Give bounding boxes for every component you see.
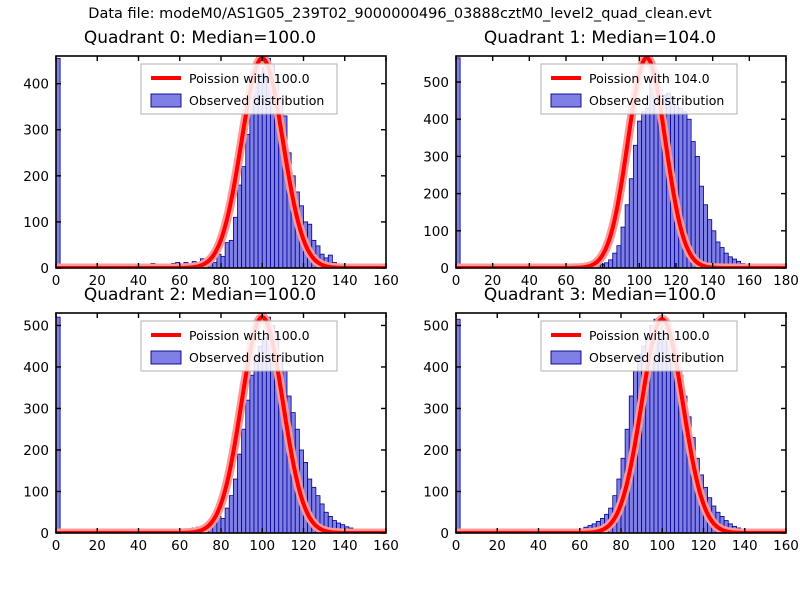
y-tick-label: 500 — [423, 75, 449, 91]
histogram-bar — [621, 227, 625, 268]
y-tick-label: 200 — [423, 187, 449, 203]
x-tick-label: 20 — [89, 538, 106, 554]
y-tick-label: 300 — [423, 149, 449, 165]
histogram-bar — [233, 217, 237, 268]
histogram-bar — [633, 145, 637, 268]
plot-area-quadrant-2: 0204060801001201401600100200300400500Poi… — [0, 285, 400, 565]
x-tick-label: 40 — [530, 538, 547, 554]
plot-area-quadrant-0: 0204060801001201401600100200300400Poissi… — [0, 28, 400, 298]
histogram-bar — [695, 156, 699, 268]
histogram-bar — [225, 243, 229, 268]
histogram-bar — [238, 185, 242, 268]
histogram-bar — [708, 220, 712, 268]
y-tick-label: 100 — [423, 224, 449, 240]
x-tick-label: 160 — [773, 538, 799, 554]
x-tick-label: 60 — [171, 538, 188, 554]
histogram-bar — [229, 240, 233, 268]
y-tick-label: 200 — [23, 443, 49, 459]
legend-quadrant-3: Poission with 100.0Observed distribution — [541, 321, 737, 371]
legend-label-observed: Observed distribution — [589, 350, 724, 365]
legend-label-observed: Observed distribution — [189, 93, 324, 108]
y-tick-label: 400 — [23, 77, 49, 93]
histogram-bar — [233, 479, 237, 533]
y-tick-label: 100 — [23, 215, 49, 231]
y-tick-label: 100 — [423, 484, 449, 500]
y-tick-label: 300 — [423, 401, 449, 417]
histogram-bar — [242, 429, 246, 533]
legend-label-poisson: Poission with 100.0 — [189, 328, 310, 343]
histogram-bar — [617, 246, 621, 268]
x-tick-label: 0 — [52, 538, 61, 554]
histogram-bar — [213, 262, 217, 268]
histogram-bar — [254, 355, 258, 533]
y-tick-label: 100 — [23, 484, 49, 500]
legend-quadrant-2: Poission with 100.0Observed distribution — [141, 321, 337, 371]
x-tick-label: 100 — [249, 538, 275, 554]
x-tick-label: 140 — [732, 538, 758, 554]
x-tick-label: 140 — [332, 538, 358, 554]
histogram-bar — [258, 346, 262, 533]
plot-area-quadrant-3: 0204060801001201401600100200300400500Poi… — [400, 285, 800, 565]
x-tick-label: 80 — [612, 538, 629, 554]
subplot-quadrant-2: Quadrant 2: Median=100.0 020406080100120… — [0, 285, 400, 565]
y-tick-label: 200 — [423, 443, 449, 459]
x-tick-label: 100 — [649, 538, 675, 554]
x-tick-label: 40 — [130, 538, 147, 554]
legend-patch-swatch — [551, 94, 581, 107]
histogram-bar — [638, 121, 642, 268]
y-tick-label: 400 — [23, 360, 49, 376]
figure-suptitle: Data file: modeM0/AS1G05_239T02_90000004… — [0, 6, 800, 22]
y-tick-label: 0 — [440, 261, 449, 277]
subplot-quadrant-0: Quadrant 0: Median=100.0 020406080100120… — [0, 28, 400, 298]
subplot-quadrant-1: Quadrant 1: Median=104.0 020406080100120… — [400, 28, 800, 298]
histogram-bar — [613, 253, 617, 268]
x-tick-label: 80 — [212, 538, 229, 554]
histogram-bar — [246, 134, 250, 268]
histogram-bar — [250, 375, 254, 533]
histogram-bar — [242, 167, 246, 268]
histogram-bar — [642, 112, 646, 268]
x-tick-label: 160 — [373, 538, 399, 554]
x-tick-label: 0 — [452, 538, 461, 554]
subplot-quadrant-3: Quadrant 3: Median=100.0 020406080100120… — [400, 285, 800, 565]
legend-patch-swatch — [551, 351, 581, 364]
legend-label-poisson: Poission with 100.0 — [189, 71, 310, 86]
legend-label-observed: Observed distribution — [589, 93, 724, 108]
legend-label-poisson: Poission with 100.0 — [589, 328, 710, 343]
y-tick-label: 300 — [23, 123, 49, 139]
legend-quadrant-0: Poission with 100.0Observed distribution — [141, 64, 337, 114]
legend-patch-swatch — [151, 351, 181, 364]
x-tick-label: 120 — [691, 538, 717, 554]
histogram-bar — [646, 108, 650, 268]
y-tick-label: 300 — [23, 401, 49, 417]
y-tick-label: 500 — [23, 318, 49, 334]
y-tick-label: 0 — [40, 526, 49, 542]
y-tick-label: 200 — [23, 169, 49, 185]
plot-area-quadrant-1: 0204060801001201401601800100200300400500… — [400, 28, 800, 298]
y-tick-label: 0 — [440, 526, 449, 542]
histogram-bar — [609, 260, 613, 268]
legend-label-poisson: Poission with 104.0 — [589, 71, 710, 86]
legend-label-observed: Observed distribution — [189, 350, 324, 365]
histogram-bar — [246, 400, 250, 533]
y-tick-label: 400 — [423, 360, 449, 376]
x-tick-label: 20 — [489, 538, 506, 554]
histogram-bar — [629, 179, 633, 268]
x-tick-label: 120 — [291, 538, 317, 554]
histogram-bar — [704, 205, 708, 268]
histogram-bar — [625, 205, 629, 268]
legend-patch-swatch — [151, 94, 181, 107]
histogram-bar — [238, 454, 242, 533]
histogram-bar — [250, 102, 254, 268]
legend-quadrant-1: Poission with 104.0Observed distribution — [541, 64, 737, 114]
y-tick-label: 400 — [423, 112, 449, 128]
histogram-bar — [712, 231, 716, 268]
figure-canvas: Data file: modeM0/AS1G05_239T02_90000004… — [0, 0, 800, 600]
histogram-bar — [699, 186, 703, 268]
histogram-bar — [225, 508, 229, 533]
y-tick-label: 500 — [423, 318, 449, 334]
histogram-bar — [229, 496, 233, 533]
y-tick-label: 0 — [40, 261, 49, 277]
x-tick-label: 60 — [571, 538, 588, 554]
